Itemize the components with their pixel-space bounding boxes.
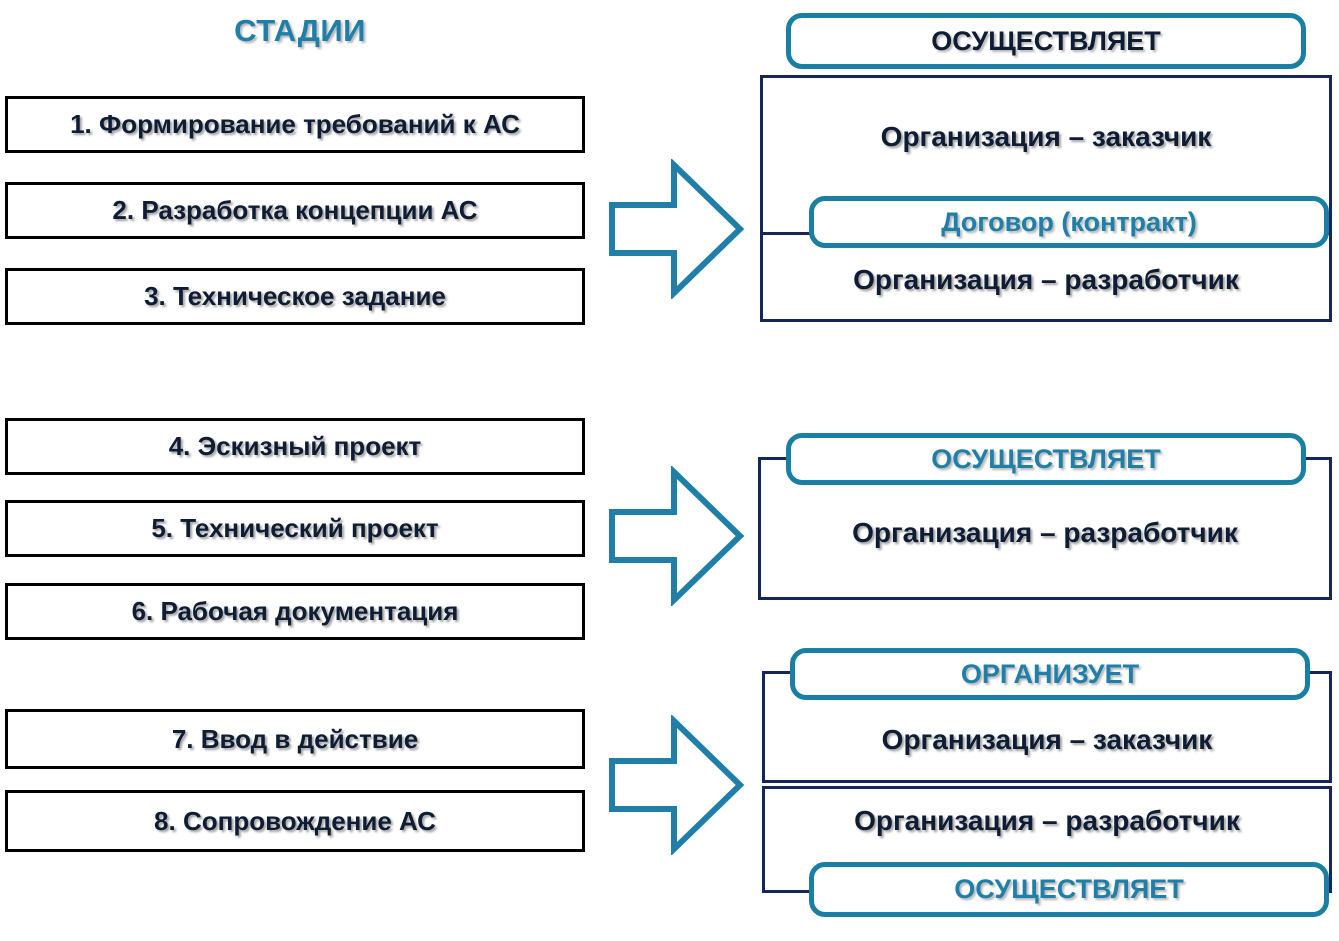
arrow-right-icon-3 — [606, 715, 746, 855]
stage-box-1[interactable]: 1. Формирование требований к АС — [5, 96, 585, 153]
stage-label-2: 2. Разработка концепции АС — [112, 195, 477, 226]
role-label-developer-1: Организация – разработчик — [760, 255, 1332, 305]
pill-performs-1[interactable]: ОСУЩЕСТВЛЯЕТ — [786, 13, 1306, 69]
pill-performs-3[interactable]: ОСУЩЕСТВЛЯЕТ — [809, 862, 1329, 917]
pill-label-performs-1: ОСУЩЕСТВЛЯЕТ — [931, 26, 1160, 57]
stage-box-2[interactable]: 2. Разработка концепции АС — [5, 182, 585, 239]
stage-label-8: 8. Сопровождение АС — [154, 806, 436, 837]
stage-box-3[interactable]: 3. Техническое задание — [5, 268, 585, 325]
arrow-right-icon-2 — [606, 466, 746, 606]
stage-label-4: 4. Эскизный проект — [169, 431, 422, 462]
pill-organizes-3[interactable]: ОРГАНИЗУЕТ — [790, 648, 1310, 700]
stage-box-5[interactable]: 5. Технический проект — [5, 500, 585, 557]
role-label-customer-3: Организация – заказчик — [762, 715, 1332, 765]
role-label-customer-1: Организация – заказчик — [760, 112, 1332, 162]
stage-label-6: 6. Рабочая документация — [132, 596, 459, 627]
pill-performs-2[interactable]: ОСУЩЕСТВЛЯЕТ — [786, 433, 1306, 485]
stage-label-5: 5. Технический проект — [151, 513, 438, 544]
stage-label-3: 3. Техническое задание — [144, 281, 446, 312]
diagram-canvas: СТАДИИ 1. Формирование требований к АС 2… — [0, 0, 1339, 941]
role-label-developer-3: Организация – разработчик — [762, 796, 1332, 846]
stage-box-7[interactable]: 7. Ввод в действие — [5, 709, 585, 769]
pill-label-performs-3: ОСУЩЕСТВЛЯЕТ — [954, 874, 1183, 905]
stage-box-8[interactable]: 8. Сопровождение АС — [5, 790, 585, 852]
pill-label-contract-1: Договор (контракт) — [941, 207, 1197, 238]
pill-label-organizes-3: ОРГАНИЗУЕТ — [961, 659, 1139, 690]
pill-contract-1[interactable]: Договор (контракт) — [809, 196, 1329, 248]
stage-box-4[interactable]: 4. Эскизный проект — [5, 418, 585, 475]
stage-label-1: 1. Формирование требований к АС — [70, 109, 520, 140]
pill-label-performs-2: ОСУЩЕСТВЛЯЕТ — [931, 444, 1160, 475]
role-label-developer-2: Организация – разработчик — [758, 508, 1332, 558]
arrow-right-icon-1 — [606, 159, 746, 299]
page-title: СТАДИИ — [205, 13, 395, 49]
stage-box-6[interactable]: 6. Рабочая документация — [5, 583, 585, 640]
stage-label-7: 7. Ввод в действие — [172, 724, 418, 755]
